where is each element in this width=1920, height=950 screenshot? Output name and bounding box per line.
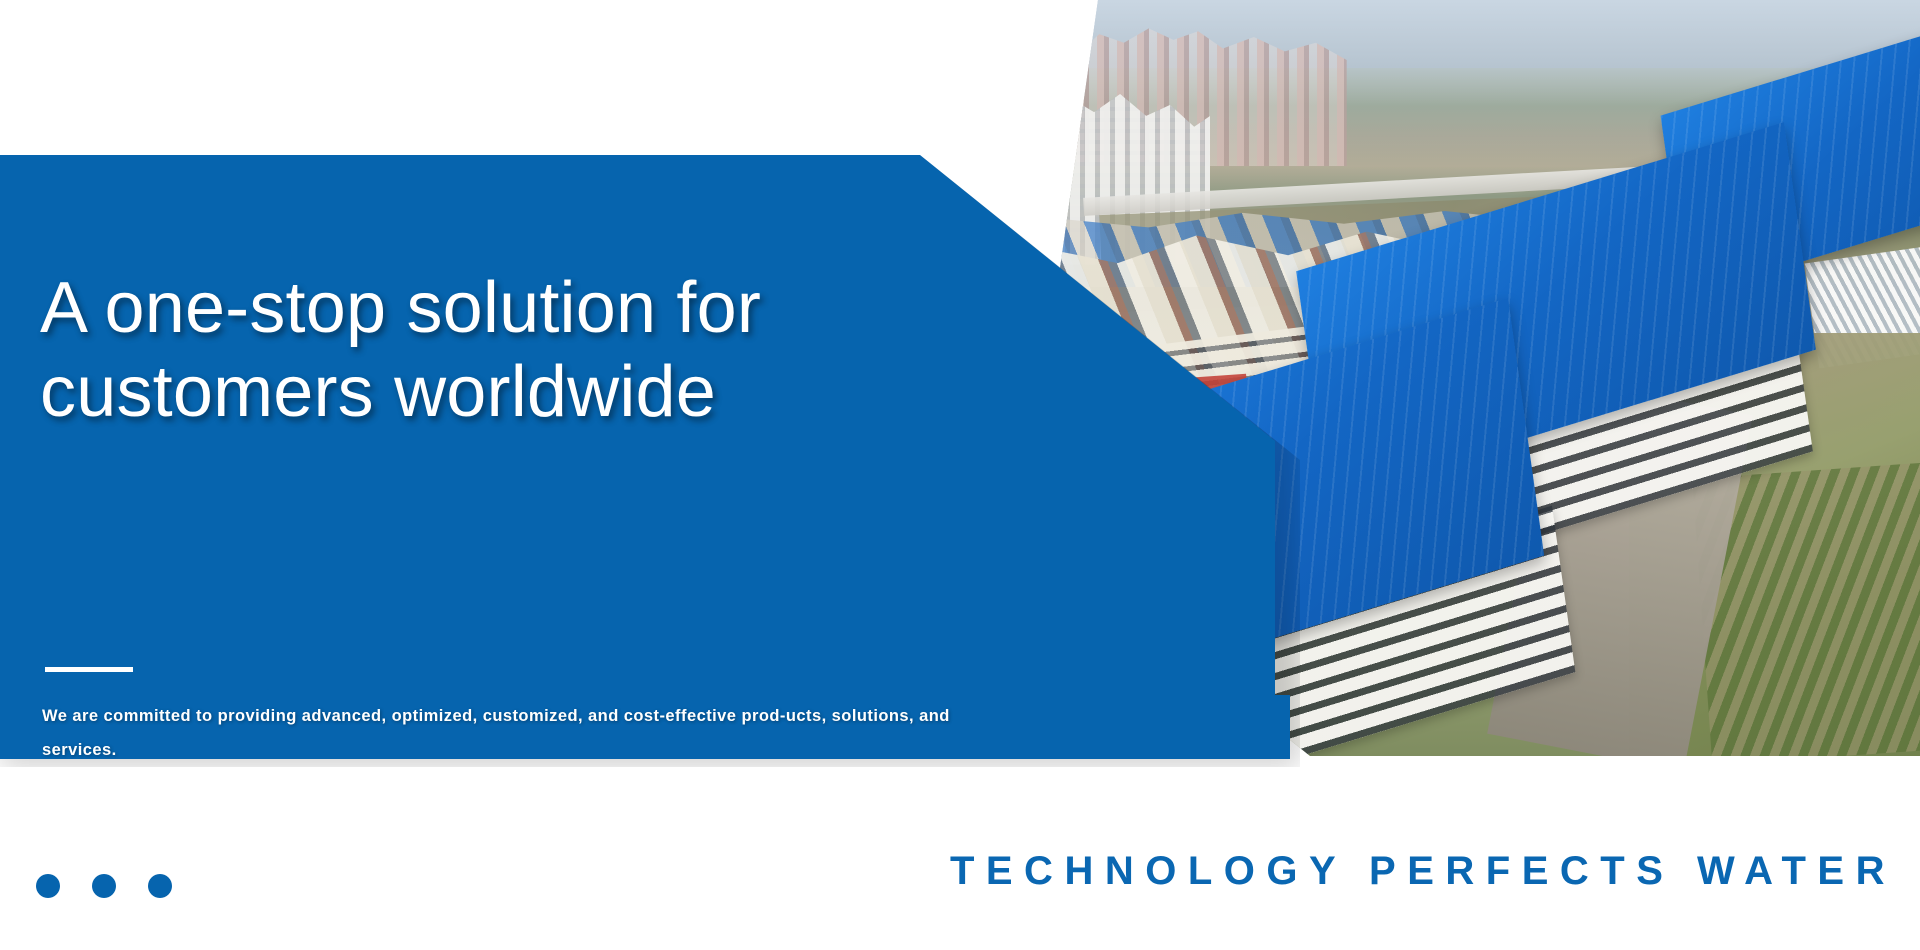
hero-subcopy: We are committed to providing advanced, … [42, 700, 972, 768]
carousel-dot-3-icon[interactable] [148, 874, 172, 898]
headline-divider-rule [45, 667, 133, 672]
brand-tagline: TECHNOLOGY PERFECTS WATER [950, 849, 1896, 894]
carousel-dot-2-icon[interactable] [92, 874, 116, 898]
hero-banner: A one-stop solution for customers worldw… [0, 0, 1920, 950]
carousel-dots[interactable] [36, 874, 172, 898]
hero-headline: A one-stop solution for customers worldw… [40, 267, 940, 434]
carousel-dot-1-icon[interactable] [36, 874, 60, 898]
